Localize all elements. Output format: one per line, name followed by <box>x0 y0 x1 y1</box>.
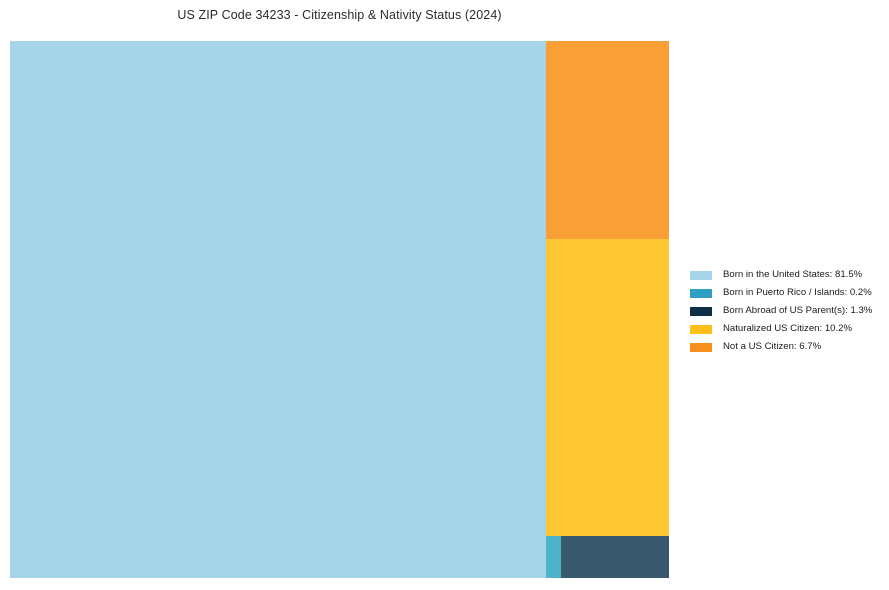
page-title: US ZIP Code 34233 - Citizenship & Nativi… <box>0 8 679 22</box>
legend-swatch-icon <box>690 289 712 298</box>
treemap-tile[interactable] <box>546 41 669 239</box>
legend-swatch-icon <box>690 307 712 316</box>
legend-swatch-icon <box>690 343 712 352</box>
legend-item-label: Naturalized US Citizen: 10.2% <box>723 324 852 334</box>
treemap-tile[interactable] <box>561 536 669 578</box>
legend-item[interactable]: Born Abroad of US Parent(s): 1.3% <box>690 302 880 320</box>
legend-item[interactable]: Naturalized US Citizen: 10.2% <box>690 320 880 338</box>
legend-item-label: Born in Puerto Rico / Islands: 0.2% <box>723 288 872 298</box>
legend-item[interactable]: Not a US Citizen: 6.7% <box>690 338 880 356</box>
legend-item-label: Not a US Citizen: 6.7% <box>723 342 821 352</box>
legend-swatch-icon <box>690 271 712 280</box>
treemap-figure: US ZIP Code 34233 - Citizenship & Nativi… <box>0 0 889 590</box>
treemap-tile[interactable] <box>546 239 669 536</box>
legend-item[interactable]: Born in the United States: 81.5% <box>690 266 880 284</box>
chart-legend: Born in the United States: 81.5% Born in… <box>690 266 880 356</box>
legend-item-label: Born in the United States: 81.5% <box>723 270 862 280</box>
treemap-tile[interactable] <box>10 41 546 578</box>
treemap-plot-area <box>10 41 669 578</box>
legend-item[interactable]: Born in Puerto Rico / Islands: 0.2% <box>690 284 880 302</box>
treemap-tile[interactable] <box>546 536 561 578</box>
legend-swatch-icon <box>690 325 712 334</box>
legend-item-label: Born Abroad of US Parent(s): 1.3% <box>723 306 872 316</box>
